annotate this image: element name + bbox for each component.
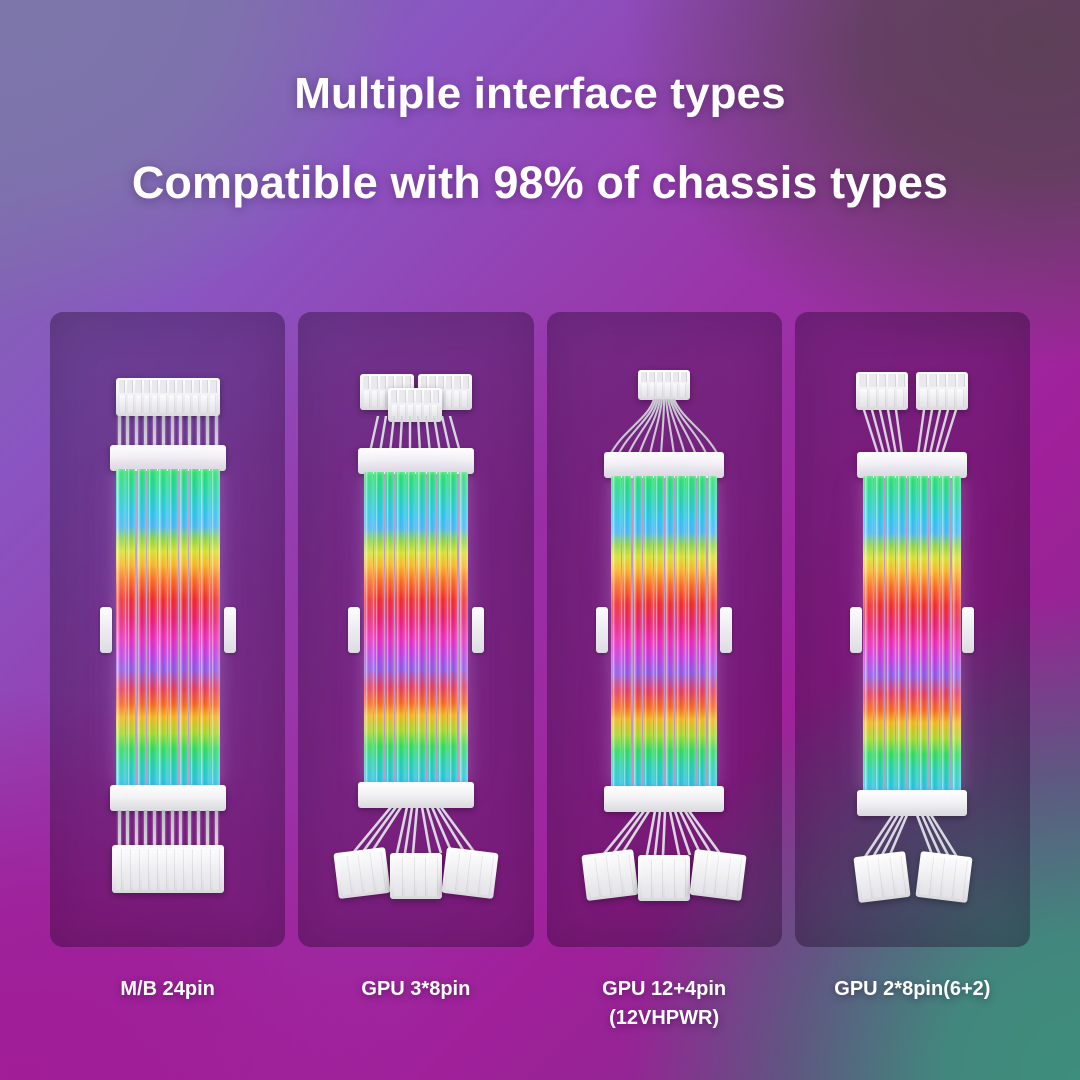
bottom-collar-band <box>604 786 724 812</box>
panel-mb-24pin[interactable] <box>50 312 285 947</box>
bottom-connector-8pin-c <box>441 847 498 899</box>
bottom-connector-8pin-c <box>690 849 747 901</box>
headline-block: Multiple interface types Compatible with… <box>0 0 1080 205</box>
cable-clip-left <box>348 607 360 653</box>
headline-line-1: Multiple interface types <box>0 72 1080 116</box>
caption-line-1: GPU 3*8pin <box>361 978 470 1000</box>
cable-clip-right <box>962 607 974 653</box>
cable-clip-right <box>720 607 732 653</box>
caption-line-1: GPU 2*8pin(6+2) <box>834 978 990 1000</box>
cable-assembly <box>795 312 1030 947</box>
bottom-connector-8pin-b <box>638 855 690 901</box>
cable-image-gpu-3x8pin <box>298 312 533 947</box>
bottom-collar-band <box>358 782 474 808</box>
cable-clip-right <box>224 607 236 653</box>
caption-gpu-3x8pin: GPU 3*8pin <box>298 975 533 1033</box>
cable-assembly <box>50 312 285 947</box>
top-connector-8pin-b <box>916 372 968 410</box>
panel-gpu-12plus4pin[interactable] <box>547 312 782 947</box>
caption-line-1: M/B 24pin <box>120 978 214 1000</box>
cable-clip-left <box>100 607 112 653</box>
product-panel-row <box>50 312 1030 947</box>
top-collar-band <box>857 452 967 478</box>
caption-gpu-12plus4pin: GPU 12+4pin (12VHPWR) <box>547 975 782 1033</box>
bottom-strand-bundle <box>118 810 218 848</box>
bottom-splitter-legs <box>331 807 501 853</box>
caption-mb-24pin: M/B 24pin <box>50 975 285 1033</box>
bottom-splitter-legs <box>837 815 987 857</box>
cable-clip-left <box>850 607 862 653</box>
headline-line-2: Compatible with 98% of chassis types <box>0 160 1080 205</box>
bottom-splitter-legs <box>579 811 749 855</box>
bottom-connector-8pin-a <box>333 847 390 899</box>
caption-row: M/B 24pin GPU 3*8pin GPU 12+4pin (12VHPW… <box>50 975 1030 1033</box>
caption-gpu-2x8pin: GPU 2*8pin(6+2) <box>795 975 1030 1033</box>
top-collar-band <box>604 452 724 478</box>
bottom-collar-band <box>857 790 967 816</box>
rgb-sleeve <box>863 476 961 792</box>
bottom-connector-8pin-a <box>582 849 639 901</box>
rgb-sleeve <box>116 469 220 787</box>
bottom-connector-8pin-a <box>854 851 911 903</box>
braided-wire-cone <box>598 399 730 455</box>
bottom-collar-band <box>110 785 226 811</box>
cable-image-gpu-12plus4pin <box>547 312 782 947</box>
rgb-sleeve <box>611 476 717 788</box>
bottom-connector-24pin <box>112 845 224 893</box>
cable-assembly <box>547 312 782 947</box>
top-collar-band <box>110 445 226 471</box>
top-connector-24pin <box>116 378 220 416</box>
top-splitter-legs <box>852 410 972 454</box>
cable-clip-right <box>472 607 484 653</box>
top-connector-8pin-a <box>856 372 908 410</box>
cable-image-gpu-2x8pin <box>795 312 1030 947</box>
bottom-connector-8pin-b <box>916 851 973 903</box>
cable-assembly <box>298 312 533 947</box>
bottom-connector-8pin-b <box>390 853 442 899</box>
top-connector-12vhpwr <box>638 370 690 400</box>
rgb-sleeve <box>364 472 468 784</box>
top-collar-band <box>358 448 474 474</box>
cable-clip-left <box>596 607 608 653</box>
panel-gpu-2x8pin[interactable] <box>795 312 1030 947</box>
cable-image-mb-24pin <box>50 312 285 947</box>
caption-line-2: (12VHPWR) <box>547 1004 782 1033</box>
panel-gpu-3x8pin[interactable] <box>298 312 533 947</box>
caption-line-1: GPU 12+4pin <box>602 978 726 1000</box>
top-splitter-legs <box>356 416 476 452</box>
